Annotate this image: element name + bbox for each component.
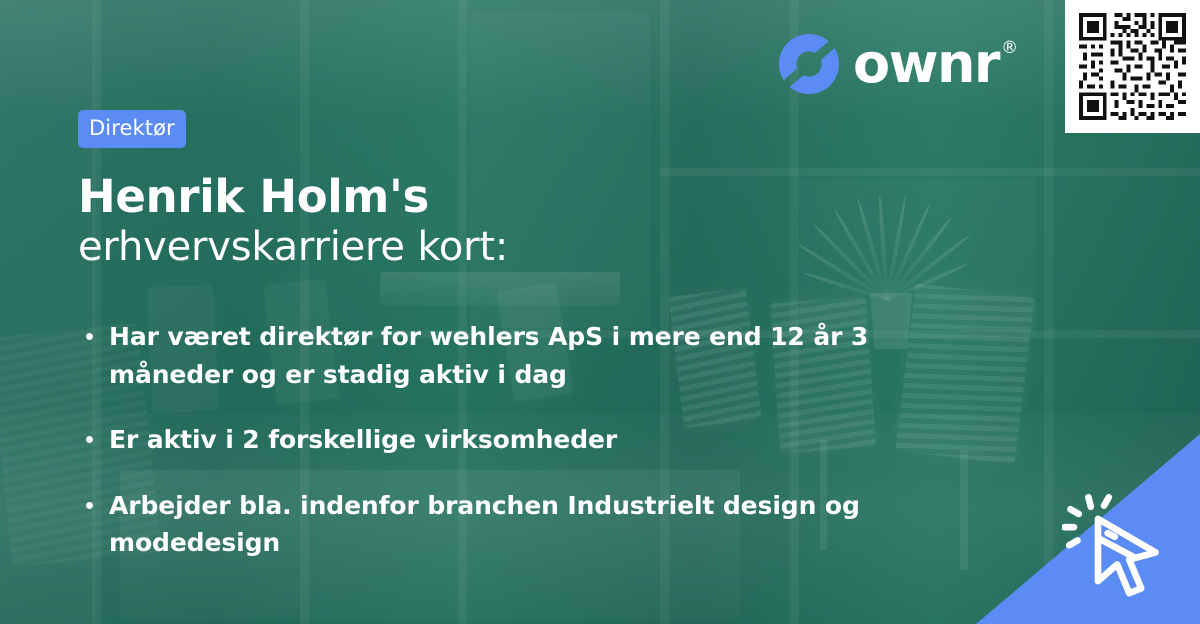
- page-title: Henrik Holm's erhvervskarriere kort:: [78, 170, 978, 271]
- ownr-wordmark: ownr ®: [853, 37, 1015, 91]
- ownr-circle-swoosh-logo: [778, 33, 840, 95]
- qr-code-image: [1075, 9, 1190, 124]
- headline-line-2: erhvervskarriere kort:: [78, 223, 978, 271]
- bullet-dot-icon: [86, 333, 93, 340]
- role-badge: Direktør: [78, 110, 186, 148]
- headline-line-1: Henrik Holm's: [78, 170, 978, 223]
- qr-code[interactable]: [1065, 0, 1200, 133]
- business-career-card: ownr ®: [0, 0, 1200, 624]
- ownr-wordmark-text: ownr: [853, 37, 999, 91]
- career-facts-list: Har været direktør for wehlers ApS i mer…: [84, 318, 984, 562]
- registered-trademark-icon: ®: [1001, 40, 1017, 57]
- list-item: Har været direktør for wehlers ApS i mer…: [84, 318, 984, 393]
- list-item-text: Er aktiv i 2 forskellige virksomheder: [109, 425, 617, 454]
- bullet-dot-icon: [86, 502, 93, 509]
- ownr-logo[interactable]: ownr ®: [778, 33, 1015, 95]
- list-item-text: Arbejder bla. indenfor branchen Industri…: [109, 491, 860, 558]
- bullet-dot-icon: [86, 436, 93, 443]
- list-item: Arbejder bla. indenfor branchen Industri…: [84, 487, 984, 562]
- list-item: Er aktiv i 2 forskellige virksomheder: [84, 421, 984, 459]
- card-content: Direktør Henrik Holm's erhvervskarriere …: [78, 110, 978, 271]
- click-cursor-icon: [1062, 490, 1182, 610]
- list-item-text: Har været direktør for wehlers ApS i mer…: [109, 322, 868, 389]
